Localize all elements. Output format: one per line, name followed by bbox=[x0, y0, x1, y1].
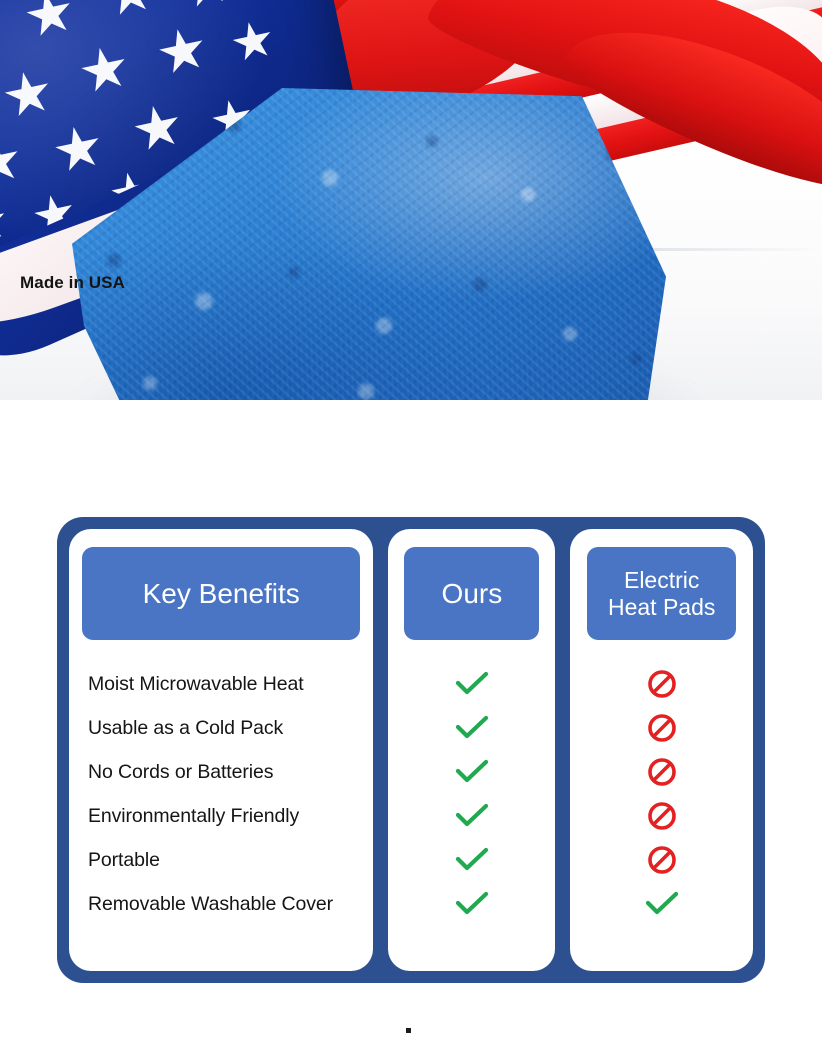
no-entry-icon bbox=[647, 845, 677, 875]
comparison-panel: Key Benefits Moist Microwavable Heat Usa… bbox=[57, 517, 765, 983]
electric-column-card: Electric Heat Pads bbox=[570, 529, 753, 971]
no-entry-icon bbox=[647, 801, 677, 831]
check-icon bbox=[455, 891, 489, 917]
check-icon bbox=[455, 759, 489, 785]
benefit-item: Environmentally Friendly bbox=[88, 794, 373, 838]
ours-mark-row bbox=[455, 794, 489, 838]
ours-mark-column bbox=[388, 640, 555, 926]
electric-mark-row bbox=[647, 750, 677, 794]
bottom-marker-dot bbox=[406, 1028, 411, 1033]
ours-mark-row bbox=[455, 882, 489, 926]
electric-header-line1: Electric bbox=[624, 567, 699, 593]
ours-mark-row bbox=[455, 706, 489, 750]
check-icon bbox=[645, 891, 679, 917]
ours-mark-row bbox=[455, 838, 489, 882]
benefit-item: Moist Microwavable Heat bbox=[88, 662, 373, 706]
electric-mark-row bbox=[647, 662, 677, 706]
ours-mark-row bbox=[455, 750, 489, 794]
benefit-item: Removable Washable Cover bbox=[88, 882, 373, 926]
check-icon bbox=[455, 847, 489, 873]
electric-mark-row bbox=[647, 838, 677, 882]
ours-mark-row bbox=[455, 662, 489, 706]
electric-mark-row bbox=[647, 794, 677, 838]
electric-mark-row bbox=[645, 882, 679, 926]
check-icon bbox=[455, 803, 489, 829]
benefits-column-header: Key Benefits bbox=[82, 547, 360, 640]
electric-header-line2: Heat Pads bbox=[608, 594, 715, 620]
benefits-column-card: Key Benefits Moist Microwavable Heat Usa… bbox=[69, 529, 373, 971]
no-entry-icon bbox=[647, 713, 677, 743]
made-in-usa-badge: Made in USA bbox=[20, 273, 125, 293]
electric-mark-row bbox=[647, 706, 677, 750]
no-entry-icon bbox=[647, 669, 677, 699]
check-icon bbox=[455, 715, 489, 741]
benefit-item: No Cords or Batteries bbox=[88, 750, 373, 794]
ours-column-card: Ours bbox=[388, 529, 555, 971]
benefit-item: Usable as a Cold Pack bbox=[88, 706, 373, 750]
comparison-cards: Key Benefits Moist Microwavable Heat Usa… bbox=[57, 517, 765, 983]
benefit-item: Portable bbox=[88, 838, 373, 882]
product-infographic-page: Made in USA Key Benefits Moist Microwava… bbox=[0, 0, 822, 1037]
no-entry-icon bbox=[647, 757, 677, 787]
electric-column-header: Electric Heat Pads bbox=[587, 547, 736, 640]
benefit-list: Moist Microwavable Heat Usable as a Cold… bbox=[69, 640, 373, 926]
electric-mark-column bbox=[570, 640, 753, 926]
hero-product-photo: Made in USA bbox=[0, 0, 822, 400]
check-icon bbox=[455, 671, 489, 697]
ours-column-header: Ours bbox=[404, 547, 539, 640]
